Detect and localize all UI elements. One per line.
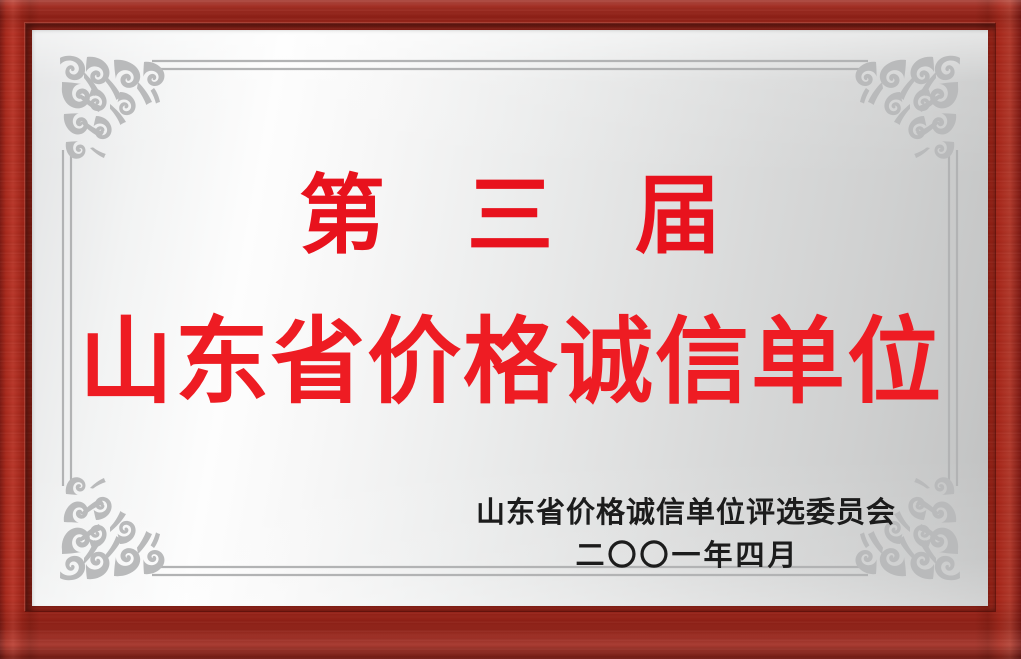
floral-corner-ornament-bottom-right	[848, 466, 966, 584]
silver-plate: 第 三 届 山东省价格诚信单位 山东省价格诚信单位评选委员会 二〇〇一年四月	[32, 30, 988, 606]
issue-date: 二〇〇一年四月	[476, 539, 896, 573]
border-rule-lines	[32, 30, 988, 606]
floral-corner-ornament-top-right	[848, 52, 966, 170]
award-plaque: 第 三 届 山东省价格诚信单位 山东省价格诚信单位评选委员会 二〇〇一年四月	[0, 0, 1021, 659]
plate-sheen	[32, 30, 988, 606]
award-title: 山东省价格诚信单位	[32, 313, 988, 412]
inscription: 第 三 届 山东省价格诚信单位 山东省价格诚信单位评选委员会 二〇〇一年四月	[32, 30, 988, 606]
signature-block: 山东省价格诚信单位评选委员会 二〇〇一年四月	[476, 496, 896, 573]
floral-corner-ornament-bottom-left	[54, 466, 172, 584]
award-edition-title: 第 三 届	[32, 173, 988, 259]
floral-corner-ornament-top-left	[54, 52, 172, 170]
issuing-organization: 山东省价格诚信单位评选委员会	[476, 496, 896, 530]
